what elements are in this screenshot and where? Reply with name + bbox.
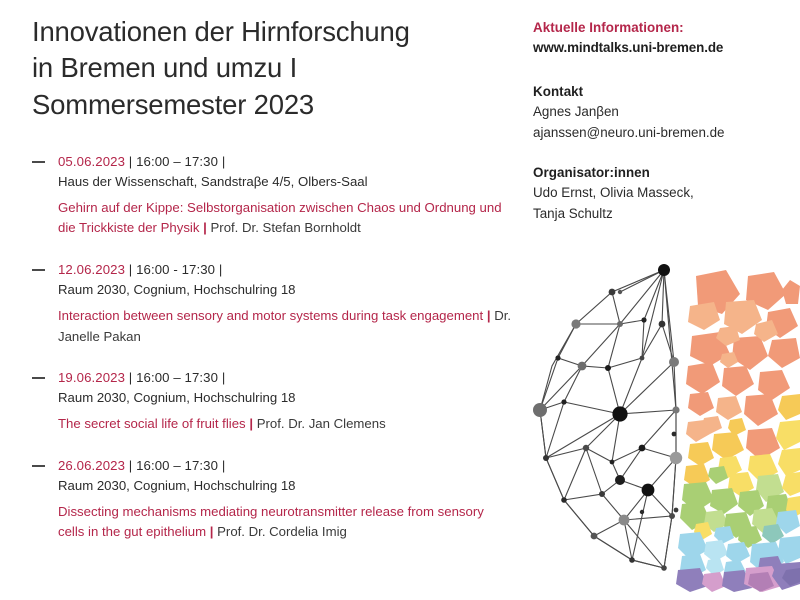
list-item[interactable]: 05.06.2023 | 16:00 – 17:30 | Haus der Wi… — [32, 152, 512, 239]
info-url[interactable]: www.mindtalks.uni-bremen.de — [533, 38, 783, 58]
event-time: 16:00 - 17:30 — [136, 262, 215, 277]
organisator-line-2: Tanja Schultz — [533, 204, 783, 224]
separator: | — [222, 458, 226, 473]
event-talk-title: Interaction between sensory and motor sy… — [58, 308, 483, 323]
dash-icon — [32, 465, 45, 467]
brain-graph-edges — [540, 270, 676, 568]
separator: | — [129, 458, 133, 473]
event-time: 16:00 – 17:30 — [136, 154, 218, 169]
event-date: 12.06.2023 — [58, 262, 125, 277]
right-column: Aktuelle Informationen: www.mindtalks.un… — [533, 18, 783, 224]
event-speaker: Prof. Dr. Jan Clemens — [257, 416, 386, 431]
separator: | — [210, 524, 214, 539]
event-date: 05.06.2023 — [58, 154, 125, 169]
kontakt-heading: Kontakt — [533, 82, 783, 102]
event-datetime-row: 05.06.2023 | 16:00 – 17:30 | — [58, 152, 512, 172]
event-speaker: Prof. Dr. Stefan Bornholdt — [211, 220, 361, 235]
event-datetime-row: 26.06.2023 | 16:00 – 17:30 | — [58, 456, 512, 476]
brain-polygon-mosaic — [676, 270, 800, 592]
left-column: Innovationen der Hirnforschung in Bremen… — [32, 14, 512, 564]
event-location: Haus der Wissenschaft, Sandstraβe 4/5, O… — [58, 172, 512, 192]
event-talk-row: Interaction between sensory and motor sy… — [58, 306, 512, 347]
separator: | — [249, 416, 253, 431]
list-item[interactable]: 12.06.2023 | 16:00 - 17:30 | Raum 2030, … — [32, 260, 512, 347]
separator: | — [487, 308, 491, 323]
kontakt-email[interactable]: ajanssen@neuro.uni-bremen.de — [533, 123, 783, 143]
poster-canvas: Innovationen der Hirnforschung in Bremen… — [0, 0, 800, 600]
event-list: 05.06.2023 | 16:00 – 17:30 | Haus der Wi… — [32, 152, 512, 543]
kontakt-name: Agnes Janβen — [533, 102, 783, 122]
separator: | — [129, 262, 133, 277]
event-talk-row: The secret social life of fruit flies | … — [58, 414, 512, 434]
event-time: 16:00 – 17:30 — [136, 370, 218, 385]
kontakt-block: Kontakt Agnes Janβen ajanssen@neuro.uni-… — [533, 82, 783, 143]
page-title: Innovationen der Hirnforschung in Bremen… — [32, 14, 512, 123]
dash-icon — [32, 377, 45, 379]
list-item[interactable]: 19.06.2023 | 16:00 – 17:30 | Raum 2030, … — [32, 368, 512, 435]
organisator-heading: Organisator:innen — [533, 163, 783, 183]
event-date: 19.06.2023 — [58, 370, 125, 385]
event-talk-row: Gehirn auf der Kippe: Selbstorganisation… — [58, 198, 512, 239]
event-location: Raum 2030, Cognium, Hochschulring 18 — [58, 388, 512, 408]
dash-icon — [32, 269, 45, 271]
event-datetime-row: 12.06.2023 | 16:00 - 17:30 | — [58, 260, 512, 280]
event-speaker: Prof. Dr. Cordelia Imig — [217, 524, 347, 539]
event-location: Raum 2030, Cognium, Hochschulring 18 — [58, 476, 512, 496]
event-talk-row: Dissecting mechanisms mediating neurotra… — [58, 502, 512, 543]
dash-icon — [32, 161, 45, 163]
separator: | — [219, 262, 223, 277]
brain-graph-nodes — [533, 264, 682, 571]
info-heading: Aktuelle Informationen: — [533, 18, 783, 38]
event-date: 26.06.2023 — [58, 458, 125, 473]
separator: | — [129, 370, 133, 385]
brain-network-illustration — [524, 262, 800, 592]
separator: | — [222, 154, 226, 169]
organisator-line-1: Udo Ernst, Olivia Masseck, — [533, 183, 783, 203]
separator: | — [203, 220, 207, 235]
event-talk-title: The secret social life of fruit flies — [58, 416, 246, 431]
event-time: 16:00 – 17:30 — [136, 458, 218, 473]
event-datetime-row: 19.06.2023 | 16:00 – 17:30 | — [58, 368, 512, 388]
separator: | — [222, 370, 226, 385]
event-location: Raum 2030, Cognium, Hochschulring 18 — [58, 280, 512, 300]
list-item[interactable]: 26.06.2023 | 16:00 – 17:30 | Raum 2030, … — [32, 456, 512, 543]
info-block: Aktuelle Informationen: www.mindtalks.un… — [533, 18, 783, 58]
organisator-block: Organisator:innen Udo Ernst, Olivia Mass… — [533, 163, 783, 224]
separator: | — [129, 154, 133, 169]
